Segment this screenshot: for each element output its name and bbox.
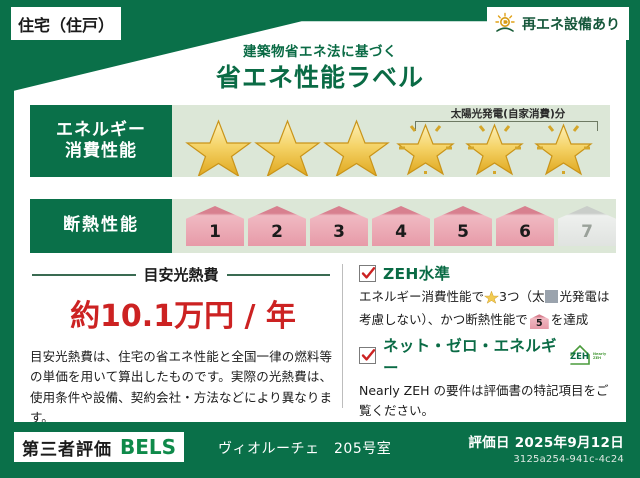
energy-key-line1: エネルギー bbox=[56, 120, 146, 141]
footer-band: 第三者評価 BELS ヴィオルーチェ 205号室 評価日 2025年9月12日 … bbox=[0, 422, 640, 478]
insulation-level-7: 7 bbox=[558, 206, 616, 246]
insulation-level-5: 5 bbox=[434, 206, 492, 246]
rule-left bbox=[32, 274, 136, 276]
energy-cost-section: 目安光熱費 約10.1万円 / 年 目安光熱費は、住宅の省エネ性能と全国一律の燃… bbox=[30, 262, 336, 414]
inline-insulation-level-icon: 5 bbox=[530, 314, 549, 329]
page-title: 省エネ性能ラベル bbox=[0, 58, 640, 94]
energy-key-line2: 消費性能 bbox=[65, 141, 137, 162]
energy-performance-label: 住宅（住戸） 再エネ設備あり 建築物省エネ法に基づく 省エネ性能ラベル エネル bbox=[0, 0, 640, 478]
certification-net-zero-energy: ネット・ゼロ・エネルギー ZEH Nearly ZEH Nearly ZEH の… bbox=[359, 334, 610, 422]
zeh-body-prefix: エネルギー消費性能で bbox=[359, 289, 484, 304]
insulation-level-2: 2 bbox=[248, 206, 306, 246]
insulation-level-6: 6 bbox=[496, 206, 554, 246]
star-icon-solar bbox=[529, 114, 598, 176]
net-zero-header: ネット・ゼロ・エネルギー ZEH Nearly ZEH bbox=[359, 334, 610, 378]
zeh-body-stars: 3つ（太 bbox=[499, 289, 544, 304]
insulation-performance-value: 1 2 3 4 5 6 7 bbox=[172, 199, 616, 253]
zeh-standard-header: ZEH水準 bbox=[359, 262, 610, 284]
bels-logo-text: BELS bbox=[120, 435, 176, 459]
svg-text:ZEH: ZEH bbox=[593, 356, 601, 360]
rule-right bbox=[227, 274, 331, 276]
zeh-standard-body: エネルギー消費性能で3つ（太光発電は考慮しない）、かつ断熱性能で5を達成 bbox=[359, 287, 610, 331]
third-party-eval-label: 第三者評価 bbox=[22, 435, 112, 460]
star-icon bbox=[184, 114, 253, 176]
star-icon-solar bbox=[460, 114, 529, 176]
energy-cost-heading: 目安光熱費 bbox=[30, 262, 336, 285]
renewable-equipment-badge: 再エネ設備あり bbox=[487, 7, 629, 40]
evaluation-id: 3125a254-941c-4c24 bbox=[468, 454, 624, 465]
evaluation-info: 評価日 2025年9月12日 3125a254-941c-4c24 bbox=[468, 431, 624, 465]
zeh-logo-icon: ZEH Nearly ZEH bbox=[568, 343, 610, 369]
star-rating bbox=[172, 106, 598, 176]
energy-performance-value: 太陽光発電(自家消費)分 bbox=[172, 105, 610, 177]
insulation-level-3: 3 bbox=[310, 206, 368, 246]
building-type-tag: 住宅（住戸） bbox=[11, 7, 121, 40]
star-icon-solar bbox=[391, 114, 460, 176]
checkbox-checked-icon bbox=[359, 347, 376, 364]
net-zero-title: ネット・ゼロ・エネルギー bbox=[383, 334, 557, 378]
title-subtitle: 建築物省エネ法に基づく bbox=[0, 40, 640, 60]
insulation-performance-key: 断熱性能 bbox=[30, 199, 172, 253]
insulation-level-scale: 1 2 3 4 5 6 7 bbox=[172, 206, 616, 246]
building-type-label: 住宅（住戸） bbox=[18, 12, 114, 36]
checkbox-checked-icon bbox=[359, 265, 376, 282]
sun-icon bbox=[493, 12, 517, 36]
star-icon bbox=[253, 114, 322, 176]
energy-cost-heading-label: 目安光熱費 bbox=[144, 264, 219, 285]
insulation-level-1: 1 bbox=[186, 206, 244, 246]
certifications-section: ZEH水準 エネルギー消費性能で3つ（太光発電は考慮しない）、かつ断熱性能で5を… bbox=[357, 262, 610, 414]
insulation-performance-row: 断熱性能 1 2 3 4 5 6 7 bbox=[30, 199, 610, 253]
lower-content: 目安光熱費 約10.1万円 / 年 目安光熱費は、住宅の省エネ性能と全国一律の燃… bbox=[30, 262, 610, 414]
zeh-standard-title: ZEH水準 bbox=[383, 262, 450, 284]
svg-text:ZEH: ZEH bbox=[570, 352, 589, 362]
insulation-key-label: 断熱性能 bbox=[63, 215, 139, 236]
bels-certification-box: 第三者評価 BELS bbox=[14, 432, 184, 462]
zeh-body-suffix: を達成 bbox=[551, 312, 589, 327]
certification-zeh-standard: ZEH水準 エネルギー消費性能で3つ（太光発電は考慮しない）、かつ断熱性能で5を… bbox=[359, 262, 610, 331]
energy-performance-key: エネルギー 消費性能 bbox=[30, 105, 172, 177]
star-icon bbox=[322, 114, 391, 176]
column-divider bbox=[342, 264, 343, 408]
inline-star-icon bbox=[484, 289, 499, 310]
renewable-badge-label: 再エネ設備あり bbox=[522, 14, 620, 34]
net-zero-body: Nearly ZEH の要件は評価書の特記項目をご覧ください。 bbox=[359, 381, 610, 422]
building-name: ヴィオルーチェ 205号室 bbox=[218, 438, 391, 458]
energy-performance-row: エネルギー 消費性能 太陽光発電(自家消費)分 bbox=[30, 105, 610, 177]
energy-cost-note: 目安光熱費は、住宅の省エネ性能と全国一律の燃料等の単価を用いて算出したものです。… bbox=[30, 347, 336, 428]
evaluation-date: 評価日 2025年9月12日 bbox=[468, 431, 624, 451]
insulation-level-4: 4 bbox=[372, 206, 430, 246]
energy-cost-amount: 約10.1万円 / 年 bbox=[30, 291, 336, 335]
redacted-character bbox=[545, 290, 558, 303]
